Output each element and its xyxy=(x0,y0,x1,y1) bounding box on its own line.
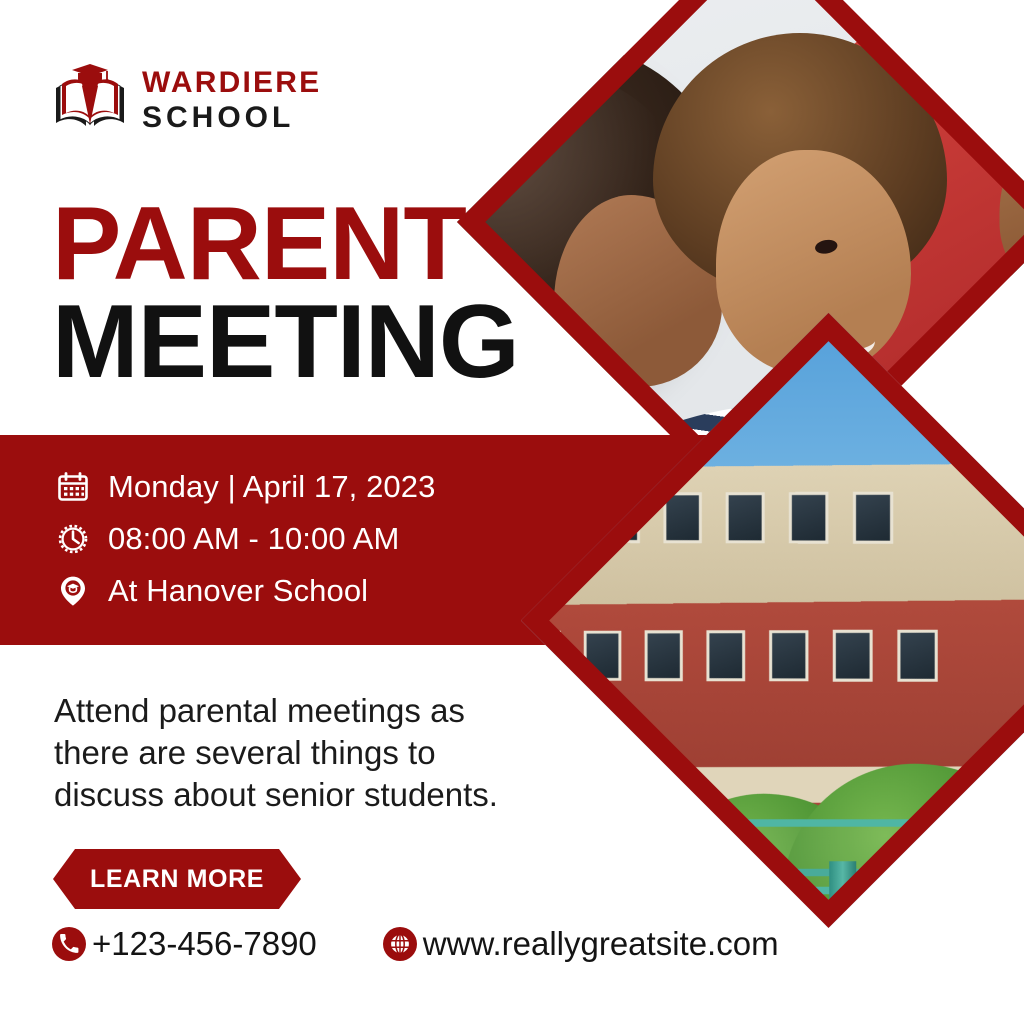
window xyxy=(833,629,873,681)
school-photo xyxy=(521,313,1024,928)
detail-text-date: Monday | April 17, 2023 xyxy=(108,469,435,505)
phone-contact[interactable]: +123-456-7890 xyxy=(52,925,317,963)
location-pin-graduation-icon xyxy=(56,574,90,608)
window xyxy=(707,630,746,681)
detail-text-time: 08:00 AM - 10:00 AM xyxy=(108,521,399,557)
website-url: www.reallygreatsite.com xyxy=(423,925,779,963)
window xyxy=(584,630,622,680)
page-title: PARENT MEETING xyxy=(52,196,519,392)
detail-row-time: 08:00 AM - 10:00 AM xyxy=(56,513,435,565)
phone-number: +123-456-7890 xyxy=(92,925,317,963)
learn-more-button[interactable]: LEARN MORE xyxy=(53,849,301,909)
window xyxy=(770,629,809,680)
calendar-icon xyxy=(56,470,90,504)
detail-text-location: At Hanover School xyxy=(108,573,368,609)
brand-name-line2: SCHOOL xyxy=(142,103,321,133)
title-line-meeting: MEETING xyxy=(52,294,519,392)
brand-logo[interactable]: WARDIERE SCHOOL xyxy=(52,62,321,139)
window xyxy=(788,492,828,544)
window xyxy=(584,831,622,881)
detail-row-location: At Hanover School xyxy=(56,565,435,617)
window xyxy=(852,492,892,544)
tree xyxy=(521,809,615,928)
graduation-book-logo-icon xyxy=(52,62,128,139)
basketball-hoop-pole xyxy=(829,861,856,928)
school-photo-diamond xyxy=(521,313,1024,928)
phone-icon xyxy=(52,927,86,961)
brand-name: WARDIERE SCHOOL xyxy=(142,68,321,133)
description-text: Attend parental meetings as there are se… xyxy=(54,690,534,817)
website-contact[interactable]: www.reallygreatsite.com xyxy=(383,925,779,963)
window xyxy=(645,630,683,681)
learn-more-label: LEARN MORE xyxy=(90,865,264,894)
window-row xyxy=(524,629,938,681)
window xyxy=(663,493,701,544)
poster-canvas: Monday | April 17, 2023 08:00 AM - 10:00… xyxy=(0,0,1024,1024)
window xyxy=(725,492,764,543)
window xyxy=(898,629,938,681)
tree xyxy=(521,772,762,928)
window xyxy=(524,831,561,881)
event-details-list: Monday | April 17, 2023 08:00 AM - 10:00… xyxy=(56,461,435,617)
title-line-parent: PARENT xyxy=(52,196,519,294)
window xyxy=(645,831,683,882)
globe-icon xyxy=(383,927,417,961)
footer-contacts: +123-456-7890 www.reallygreatsite.com xyxy=(52,925,779,963)
basketball-backboard xyxy=(710,820,935,895)
detail-row-date: Monday | April 17, 2023 xyxy=(56,461,435,513)
clock-icon xyxy=(56,522,90,556)
brand-name-line1: WARDIERE xyxy=(142,68,321,98)
